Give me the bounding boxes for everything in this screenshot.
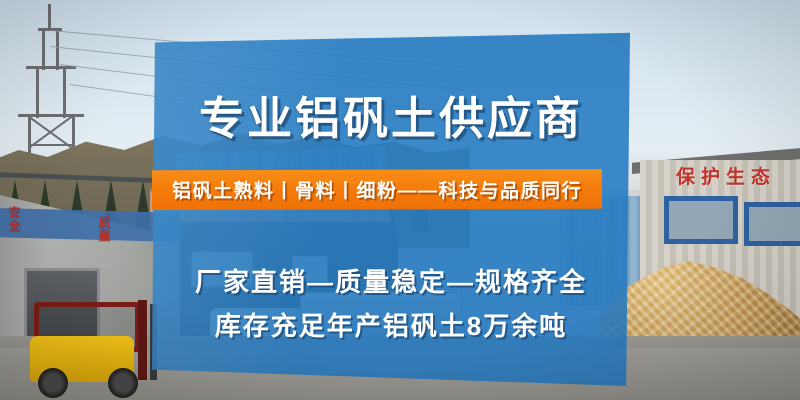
- banner-headline: 专业铝矾土供应商: [152, 82, 630, 147]
- forklift-mast: [138, 300, 147, 380]
- banner-subline-1: 厂家直销—质量稳定—规格齐全: [152, 262, 630, 299]
- forklift: [12, 300, 162, 400]
- tagline-text: 铝矾土熟料丨骨料丨细粉——科技与品质同行: [152, 176, 602, 203]
- forklift-wheel-front: [108, 368, 138, 398]
- left-building-sign-1: 安全: [6, 206, 23, 240]
- left-building-sign-band: [0, 208, 180, 242]
- right-building-window-top: [664, 196, 738, 244]
- banner-subline-2: 库存充足年产铝矾土8万余吨: [152, 306, 630, 343]
- right-building-sign: 保护生态: [676, 162, 776, 189]
- forklift-wheel-rear: [38, 368, 68, 398]
- left-building-sign-2: 质量: [96, 216, 113, 250]
- right-building-window-top-2: [744, 202, 800, 246]
- promo-banner: 保护生态 安全 质量 专业铝矾土供应商 铝矾土熟料丨骨: [0, 0, 800, 400]
